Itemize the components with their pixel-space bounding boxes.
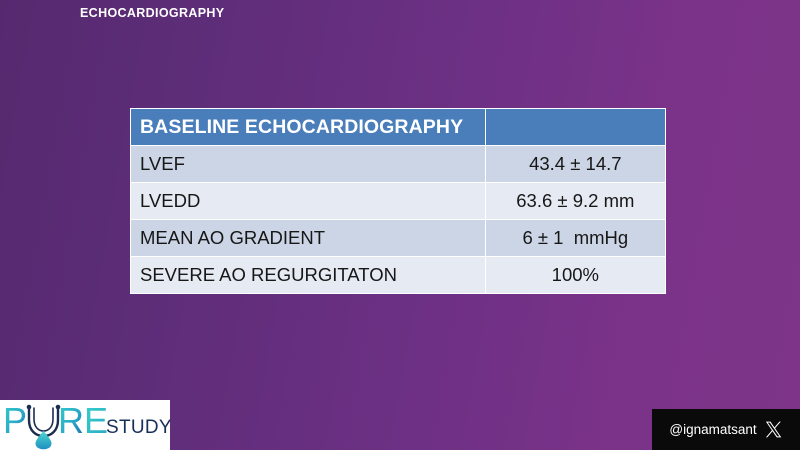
table-row: LVEDD 63.6 ± 9.2 mm xyxy=(131,183,666,220)
x-logo-icon xyxy=(764,420,783,439)
table-header-label: BASELINE ECHOCARDIOGRAPHY xyxy=(131,109,486,146)
watermark-bar: @ignamatsant xyxy=(652,409,800,450)
row-label-lvedd: LVEDD xyxy=(131,183,486,220)
row-value-lvedd: 63.6 ± 9.2 mm xyxy=(485,183,665,220)
row-value-severe-ao-regurgitation: 100% xyxy=(485,257,665,294)
watermark-handle: @ignamatsant xyxy=(669,422,756,437)
table-row: SEVERE AO REGURGITATON 100% xyxy=(131,257,666,294)
baseline-echocardiography-table: BASELINE ECHOCARDIOGRAPHY LVEF 43.4 ± 14… xyxy=(130,108,666,294)
pure-study-logo-icon: P R E STUDY xyxy=(0,400,170,450)
table-header-row: BASELINE ECHOCARDIOGRAPHY xyxy=(131,109,666,146)
row-label-mean-ao-gradient: MEAN AO GRADIENT xyxy=(131,220,486,257)
table-header-value xyxy=(485,109,665,146)
svg-text:R: R xyxy=(58,400,84,441)
row-value-mean-ao-gradient: 6 ± 1 mmHg xyxy=(485,220,665,257)
row-value-lvef: 43.4 ± 14.7 xyxy=(485,146,665,183)
table-row: MEAN AO GRADIENT 6 ± 1 mmHg xyxy=(131,220,666,257)
svg-text:P: P xyxy=(3,400,27,441)
slide-canvas: ECHOCARDIOGRAPHY BASELINE ECHOCARDIOGRAP… xyxy=(0,0,800,450)
svg-text:E: E xyxy=(84,400,108,441)
row-label-severe-ao-regurgitation: SEVERE AO REGURGITATON xyxy=(131,257,486,294)
row-label-lvef: LVEF xyxy=(131,146,486,183)
table-row: LVEF 43.4 ± 14.7 xyxy=(131,146,666,183)
page-title: ECHOCARDIOGRAPHY xyxy=(80,6,225,20)
pure-study-logo: P R E STUDY xyxy=(0,400,170,450)
svg-text:STUDY: STUDY xyxy=(106,417,170,438)
